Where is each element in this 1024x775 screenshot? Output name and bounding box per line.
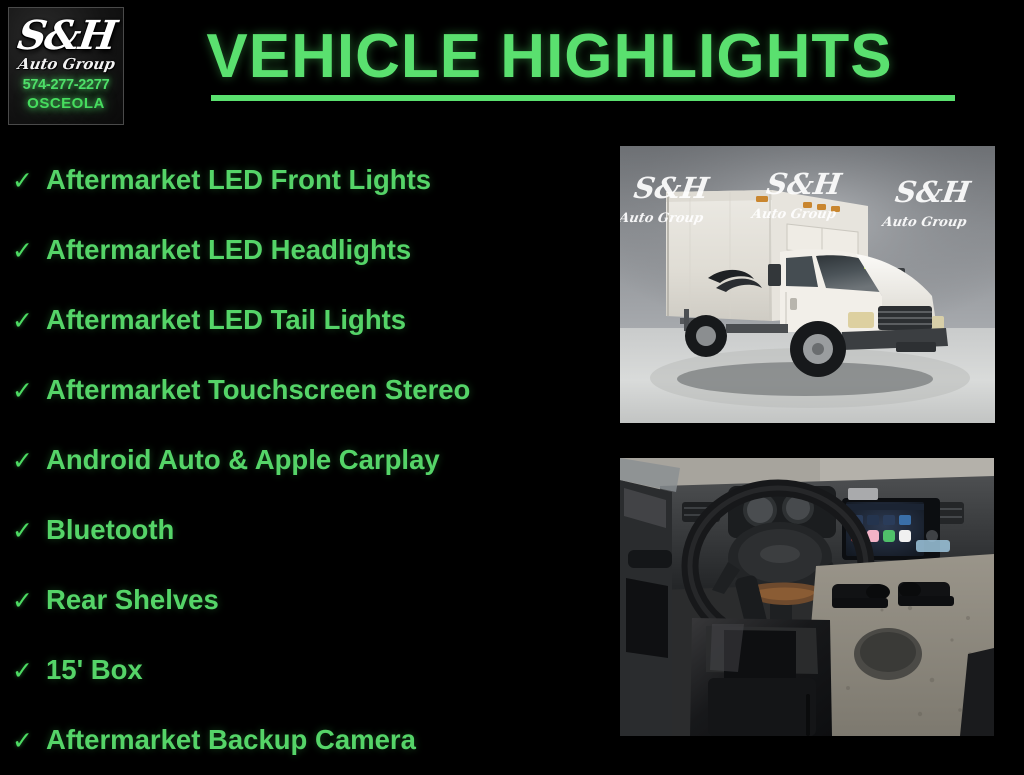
- watermark-brand: S&H: [632, 171, 713, 205]
- watermark-subtitle: Auto Group: [749, 207, 837, 222]
- list-item-label: Aftermarket LED Tail Lights: [46, 304, 406, 336]
- interior-dashboard-photo: [620, 458, 994, 736]
- list-item: ✓ Aftermarket Touchscreen Stereo: [0, 355, 600, 425]
- list-item-label: Aftermarket LED Front Lights: [46, 164, 431, 196]
- dealer-logo: S&H Auto Group 574-277-2277 OSCEOLA: [8, 7, 124, 125]
- check-icon: ✓: [12, 168, 46, 193]
- logo-brand-text: S&H: [15, 16, 117, 56]
- list-item: ✓ Aftermarket LED Front Lights: [0, 145, 600, 215]
- watermark-subtitle: Auto Group: [879, 215, 967, 230]
- list-item: ✓ Aftermarket LED Tail Lights: [0, 285, 600, 355]
- check-icon: ✓: [12, 658, 46, 683]
- logo-phone-number: 574-277-2277: [23, 78, 110, 93]
- watermark-brand: S&H: [764, 167, 845, 201]
- exterior-box-truck-photo: S&H Auto Group S&H Auto Group S&H Auto G…: [620, 146, 995, 423]
- list-item-label: 15' Box: [46, 654, 143, 686]
- list-item-label: Aftermarket LED Headlights: [46, 234, 411, 266]
- vehicle-highlights-list: ✓ Aftermarket LED Front Lights ✓ Afterma…: [0, 145, 600, 775]
- check-icon: ✓: [12, 378, 46, 403]
- check-icon: ✓: [12, 518, 46, 543]
- interior-photo-graphic: [620, 458, 994, 736]
- list-item-label: Aftermarket Touchscreen Stereo: [46, 374, 470, 406]
- list-item-label: Android Auto & Apple Carplay: [46, 444, 440, 476]
- check-icon: ✓: [12, 238, 46, 263]
- list-item: ✓ Rear Shelves: [0, 565, 600, 635]
- watermark-subtitle: Auto Group: [620, 211, 704, 226]
- logo-city-name: OSCEOLA: [27, 96, 105, 111]
- list-item: ✓ Android Auto & Apple Carplay: [0, 425, 600, 495]
- logo-subtitle-text: Auto Group: [16, 57, 115, 72]
- list-item: ✓ 15' Box: [0, 635, 600, 705]
- page-title: VEHICLE HIGHLIGHTS: [140, 22, 1024, 92]
- list-item-label: Aftermarket Backup Camera: [46, 724, 416, 756]
- check-icon: ✓: [12, 588, 46, 613]
- page-title-underline: [211, 95, 955, 101]
- exterior-photo-graphic: S&H Auto Group S&H Auto Group S&H Auto G…: [620, 146, 995, 423]
- list-item-label: Rear Shelves: [46, 584, 219, 616]
- check-icon: ✓: [12, 728, 46, 753]
- list-item: ✓ Bluetooth: [0, 495, 600, 565]
- list-item: ✓ Aftermarket LED Headlights: [0, 215, 600, 285]
- list-item: ✓ Aftermarket Backup Camera: [0, 705, 600, 775]
- check-icon: ✓: [12, 448, 46, 473]
- check-icon: ✓: [12, 308, 46, 333]
- watermark-brand: S&H: [893, 175, 974, 209]
- list-item-label: Bluetooth: [46, 514, 174, 546]
